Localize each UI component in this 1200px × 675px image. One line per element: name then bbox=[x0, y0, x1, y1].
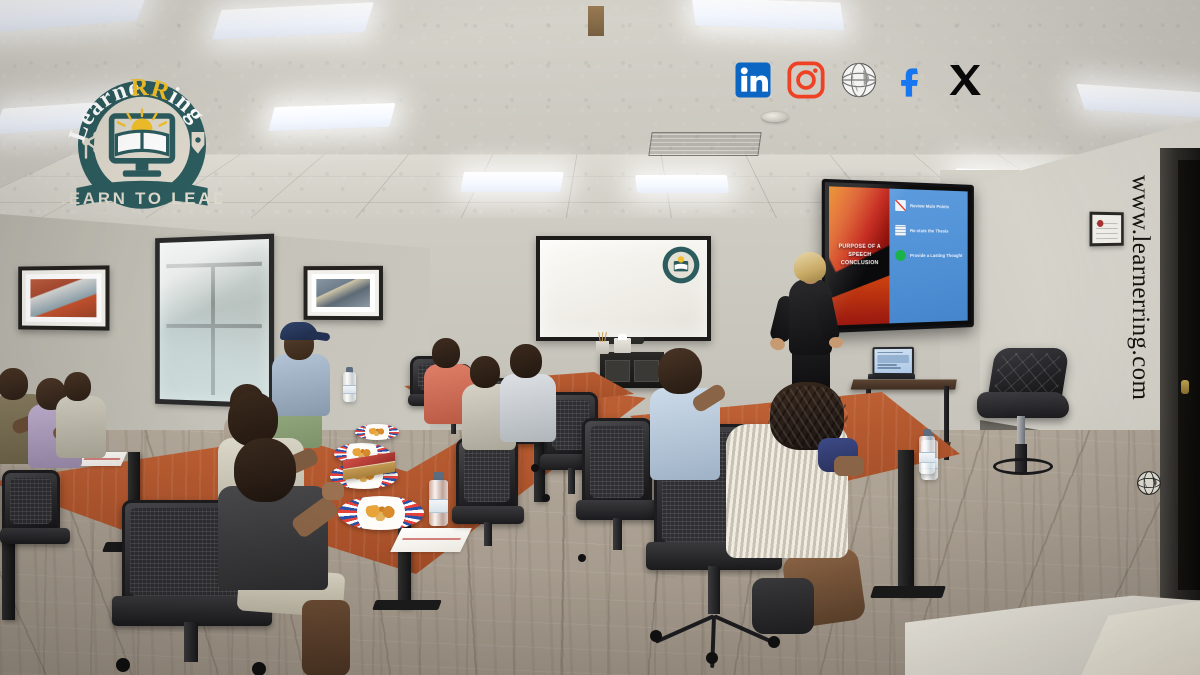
leather-drafting-chair[interactable] bbox=[975, 348, 1071, 528]
chair-back bbox=[582, 418, 652, 506]
bottle-label bbox=[343, 385, 356, 394]
globe-icon bbox=[1136, 470, 1162, 496]
certificate-seal-icon bbox=[1097, 220, 1103, 227]
student-center-3 bbox=[500, 344, 560, 448]
chair-caster bbox=[706, 652, 718, 664]
x-twitter-icon[interactable] bbox=[945, 60, 985, 100]
laptop-screen-line bbox=[877, 367, 900, 368]
document-icon bbox=[896, 225, 907, 236]
bottle-label bbox=[919, 452, 935, 463]
chair-caster bbox=[983, 487, 994, 498]
logo-tagline: LEARN TO LEAD bbox=[62, 189, 222, 208]
photo-image bbox=[30, 279, 96, 318]
slide-title-line: PURPOSE OF A bbox=[839, 244, 881, 252]
chair-caster bbox=[578, 554, 586, 562]
table-foot bbox=[372, 600, 442, 610]
instagram-icon[interactable] bbox=[786, 60, 826, 100]
student-head bbox=[234, 438, 296, 502]
ceiling-light bbox=[635, 175, 729, 193]
ceiling-light bbox=[460, 172, 564, 192]
student-torso bbox=[56, 396, 106, 458]
student-front-1 bbox=[218, 438, 358, 675]
chair-post bbox=[184, 622, 198, 662]
tissue-box bbox=[614, 338, 631, 353]
chair-base bbox=[983, 476, 1065, 498]
cabinet-side-panel bbox=[588, 6, 604, 36]
laptop[interactable] bbox=[872, 347, 913, 375]
table-leg bbox=[898, 450, 914, 596]
slide-bullet: Provide a Lasting Thought bbox=[896, 250, 964, 261]
student-head bbox=[432, 338, 460, 368]
snack-food bbox=[360, 505, 401, 521]
globe-icon[interactable] bbox=[839, 60, 879, 100]
slide-bullet-text: Provide a Lasting Thought bbox=[910, 253, 962, 258]
chair-caster bbox=[116, 658, 130, 672]
green-dot-icon bbox=[896, 250, 907, 261]
chair-caster bbox=[983, 498, 994, 509]
chair-caster bbox=[650, 630, 662, 642]
door-knob[interactable] bbox=[1181, 380, 1189, 394]
water-bottle bbox=[343, 372, 356, 402]
facebook-icon[interactable] bbox=[892, 60, 932, 100]
chair-mesh bbox=[590, 426, 644, 498]
ceiling-air-vent bbox=[648, 132, 761, 156]
slide-bullet-text: Review Main Points bbox=[910, 203, 949, 209]
interior-window bbox=[155, 234, 274, 409]
laptop-screen bbox=[874, 349, 912, 373]
chair-caster bbox=[531, 464, 539, 472]
slide-bullet-text: Re-state the Thesis bbox=[910, 228, 948, 233]
student-leg bbox=[302, 600, 350, 675]
cabinet-door[interactable] bbox=[605, 360, 630, 382]
student-right-2 bbox=[726, 382, 876, 652]
chart-line-icon bbox=[896, 200, 907, 211]
ceiling-light bbox=[692, 0, 845, 31]
window-glare bbox=[160, 239, 269, 403]
student-right-1 bbox=[650, 348, 728, 488]
chair-gas-cylinder bbox=[1017, 416, 1025, 446]
student-head bbox=[658, 348, 702, 394]
snack-food bbox=[366, 428, 387, 436]
chair-caster bbox=[983, 476, 994, 487]
pencils bbox=[598, 332, 608, 342]
slide-bullet: Review Main Points bbox=[896, 200, 964, 213]
bottle-label bbox=[429, 499, 448, 513]
photo-image bbox=[316, 279, 370, 307]
linkedin-icon[interactable] bbox=[733, 60, 773, 100]
classroom-photo-scene: PURPOSE OF A SPEECH CONCLUSION Review Ma… bbox=[0, 0, 1200, 675]
pencil-cup bbox=[596, 341, 609, 354]
student-head bbox=[510, 344, 542, 378]
chair-post bbox=[568, 468, 575, 494]
water-bottle bbox=[919, 436, 935, 474]
framed-certificate bbox=[1090, 212, 1124, 247]
student-head bbox=[470, 356, 500, 388]
task-chair[interactable] bbox=[0, 470, 70, 590]
student-hand bbox=[322, 482, 344, 500]
chair-post bbox=[484, 522, 492, 546]
slide-content-panel: Review Main Points Re-state the Thesis P… bbox=[890, 189, 968, 324]
task-chair[interactable] bbox=[452, 438, 524, 558]
smoke-detector-icon bbox=[762, 112, 788, 122]
pencil bbox=[604, 332, 607, 342]
leather-chair-seat bbox=[977, 392, 1069, 418]
ceiling-light bbox=[268, 103, 395, 131]
laptop-screen-line bbox=[877, 364, 896, 365]
chair-mesh bbox=[10, 478, 52, 524]
whiteboard-logo-decal bbox=[661, 245, 701, 285]
chair-post bbox=[708, 566, 720, 614]
student-left-3 bbox=[56, 372, 112, 468]
tv-screen: PURPOSE OF A SPEECH CONCLUSION Review Ma… bbox=[829, 186, 968, 325]
chair-base-leg bbox=[655, 614, 715, 644]
laptop-screen-line bbox=[877, 352, 902, 353]
website-url-watermark: www.learnerring.com bbox=[1126, 175, 1154, 400]
student-leg bbox=[752, 578, 814, 634]
chair-back bbox=[2, 470, 60, 532]
slide-bullet: Re-state the Thesis bbox=[896, 225, 964, 237]
presenter-right-hand bbox=[829, 337, 843, 348]
chair-footring bbox=[993, 458, 1053, 475]
doorway-opening[interactable] bbox=[1178, 160, 1200, 590]
water-bottle bbox=[429, 480, 448, 526]
table-foot bbox=[870, 586, 946, 598]
laptop-screen-block bbox=[877, 355, 909, 363]
social-links-bar bbox=[733, 56, 985, 104]
chair-caster bbox=[542, 494, 550, 502]
learnerring-logo-badge: Learne RR ing LEARN TO LEAD bbox=[62, 68, 222, 228]
framed-photo-helicopter bbox=[18, 265, 109, 330]
chair-post bbox=[613, 518, 622, 550]
whiteboard bbox=[536, 236, 711, 341]
pencil bbox=[598, 332, 601, 342]
framed-photo-osprey bbox=[304, 266, 383, 320]
paper-plate bbox=[355, 424, 399, 440]
chair-seat bbox=[0, 528, 70, 544]
student-torso bbox=[500, 374, 556, 442]
student-head bbox=[64, 372, 91, 401]
presenter-hair bbox=[794, 252, 826, 282]
student-hand bbox=[834, 456, 864, 476]
student-head bbox=[0, 368, 28, 400]
presenter bbox=[776, 252, 848, 402]
